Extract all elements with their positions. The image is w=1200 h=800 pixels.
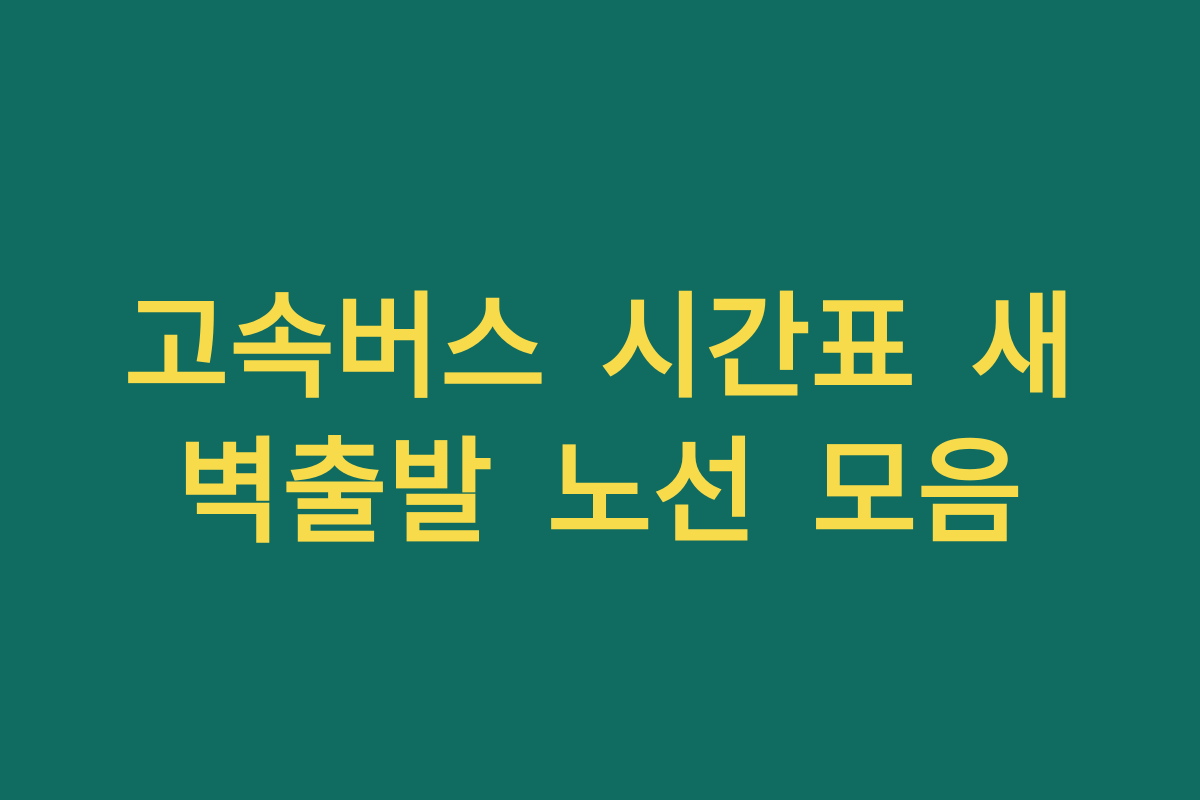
page-title: 고속버스 시간표 새벽출발 노선 모음	[95, 275, 1105, 565]
title-card: 고속버스 시간표 새벽출발 노선 모음	[0, 0, 1200, 800]
